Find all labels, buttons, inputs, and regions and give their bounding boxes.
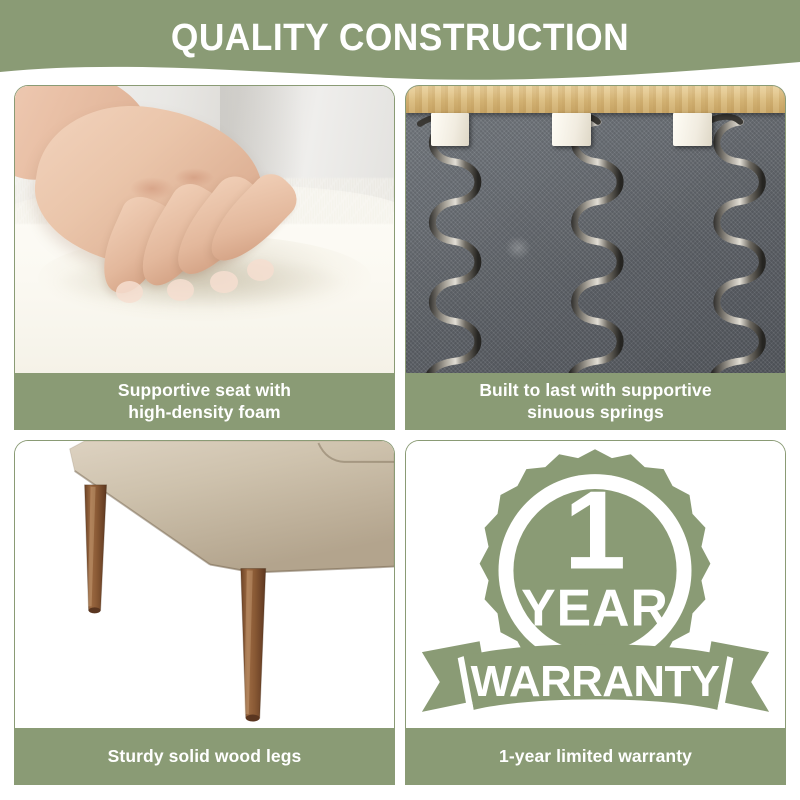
badge-number: 1 [564, 468, 626, 593]
caption-springs-line2: sinuous springs [479, 402, 711, 424]
caption-foam-line2: high-density foam [118, 402, 291, 424]
warranty-seal-graphic: 1 YEAR [406, 441, 785, 728]
fingernail [247, 259, 274, 281]
caption-springs-line1: Built to last with supportive [479, 380, 711, 402]
fingernail [210, 271, 237, 293]
springs-photo [405, 85, 786, 373]
caption-legs: Sturdy solid wood legs [14, 728, 395, 785]
foam-photo [14, 85, 395, 373]
page-title: QUALITY CONSTRUCTION [28, 17, 772, 60]
legs-photo [14, 440, 395, 728]
header-banner: QUALITY CONSTRUCTION [0, 0, 800, 84]
infographic-page: QUALITY CONSTRUCTION [0, 0, 800, 800]
badge-period: YEAR [521, 578, 669, 636]
feature-card-springs: Built to last with supportive sinuous sp… [405, 85, 786, 430]
caption-foam-line1: Supportive seat with [118, 380, 291, 402]
warranty-photo: 1 YEAR [405, 440, 786, 728]
legs-scene [15, 441, 394, 728]
spring-clip [673, 113, 712, 146]
feature-card-legs: Sturdy solid wood legs [14, 440, 395, 785]
feature-card-foam: Supportive seat with high-density foam [14, 85, 395, 430]
fingernail [167, 279, 194, 301]
fingernail [116, 281, 143, 303]
caption-warranty: 1-year limited warranty [405, 728, 786, 785]
caption-springs: Built to last with supportive sinuous sp… [405, 373, 786, 430]
caption-legs-line1: Sturdy solid wood legs [108, 746, 302, 768]
badge-ribbon-text: WARRANTY [471, 657, 720, 706]
caption-warranty-line1: 1-year limited warranty [499, 746, 692, 768]
springs-scene [406, 86, 785, 373]
feature-grid: Supportive seat with high-density foam [14, 85, 786, 785]
wooden-frame-rail [406, 86, 785, 113]
hand-illustration [14, 85, 349, 316]
spring-clip [552, 113, 591, 146]
chair-illustration [15, 441, 394, 728]
feature-card-warranty: 1 YEAR [405, 440, 786, 785]
foam-scene [15, 86, 394, 373]
spring-clip [431, 113, 470, 146]
caption-foam: Supportive seat with high-density foam [14, 373, 395, 430]
warranty-badge: 1 YEAR [406, 441, 785, 728]
